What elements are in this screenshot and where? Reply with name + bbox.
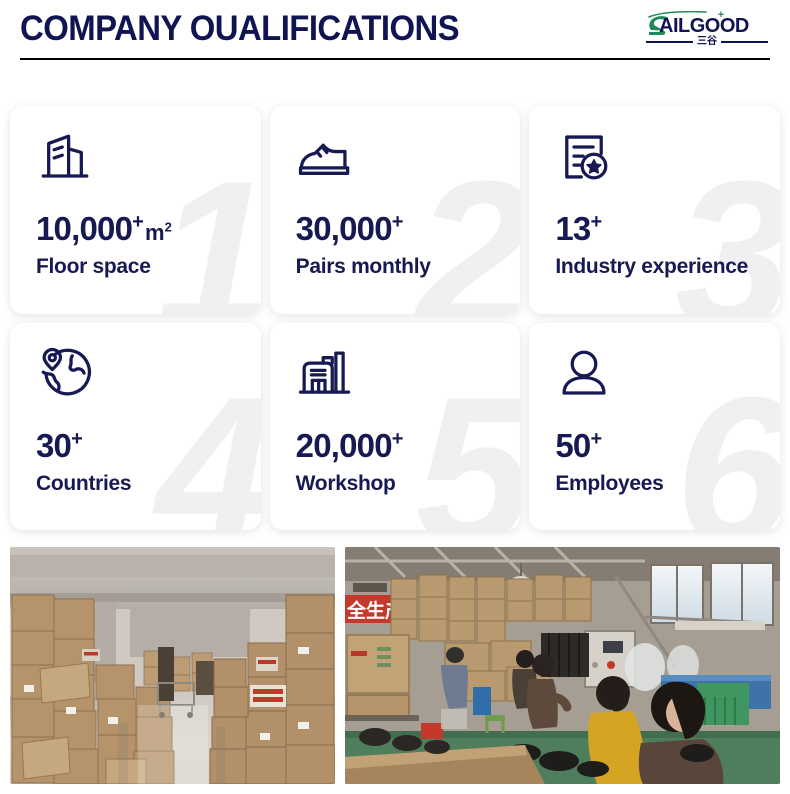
stat-label: Workshop: [296, 473, 521, 495]
building-icon: [36, 128, 94, 186]
factory-icon: [296, 345, 354, 403]
stat-number: 13: [555, 210, 590, 247]
globe-pin-icon: [36, 345, 94, 403]
stat-card-countries[interactable]: 4 30+ Countries: [10, 323, 261, 531]
stat-value: 10,000+m2: [36, 212, 261, 245]
stat-number: 50: [555, 427, 590, 464]
stat-card-floor-space[interactable]: 1 10,000+m2 Floor space: [10, 106, 261, 314]
svg-text:AILGOOD: AILGOOD: [659, 15, 749, 35]
stat-plus: +: [392, 211, 403, 233]
stat-number: 30: [36, 427, 71, 464]
stat-label: Countries: [36, 473, 261, 495]
stat-value: 50+: [555, 429, 780, 462]
brand-chinese-row: 三谷: [646, 35, 768, 49]
qualification-card-grid: 1 10,000+m2 Floor space 2: [10, 106, 780, 530]
warehouse-photo-art: [10, 547, 335, 784]
stat-value: 30,000+: [296, 212, 521, 245]
card-body: 50+ Employees: [555, 429, 780, 495]
stat-label: Industry experience: [555, 256, 780, 278]
person-icon: [555, 345, 613, 403]
warehouse-photo: [10, 547, 335, 784]
stat-label: Floor space: [36, 256, 261, 278]
stat-label: Employees: [555, 473, 780, 495]
stat-plus: +: [71, 428, 82, 450]
card-body: 10,000+m2 Floor space: [36, 212, 261, 278]
factory-photo: 全生产: [345, 547, 780, 784]
facility-photo-row: 全生产: [10, 547, 780, 784]
brand-rule-left: [646, 41, 693, 43]
stat-unit: m2: [145, 220, 172, 245]
stat-plus: +: [132, 211, 143, 233]
certificate-star-icon: [555, 128, 613, 186]
sneaker-icon: [296, 128, 354, 186]
page-header: COMPANY OUALIFICATIONS AILGOOD 三谷: [0, 0, 790, 72]
card-body: 30+ Countries: [36, 429, 261, 495]
stat-plus: +: [590, 428, 601, 450]
stat-plus: +: [590, 211, 601, 233]
brand-wordmark-svg: AILGOOD: [646, 11, 768, 35]
card-body: 30,000+ Pairs monthly: [296, 212, 521, 278]
stat-number: 20,000: [296, 427, 392, 464]
card-body: 13+ Industry experience: [555, 212, 780, 278]
stat-plus: +: [392, 428, 403, 450]
factory-photo-art: 全生产: [345, 547, 780, 784]
card-body: 20,000+ Workshop: [296, 429, 521, 495]
stat-number: 30,000: [296, 210, 392, 247]
brand-chinese-label: 三谷: [693, 37, 721, 47]
stat-card-industry-experience[interactable]: 3 13+ Industry experience: [529, 106, 780, 314]
stat-card-employees[interactable]: 6 50+ Employees: [529, 323, 780, 531]
stat-label: Pairs monthly: [296, 256, 521, 278]
stat-card-workshop[interactable]: 5 20,000+ Workshop: [270, 323, 521, 531]
header-divider: [20, 58, 770, 60]
stat-number: 10,000: [36, 210, 132, 247]
page-title: COMPANY OUALIFICATIONS: [20, 9, 459, 49]
stat-value: 20,000+: [296, 429, 521, 462]
stat-value: 13+: [555, 212, 780, 245]
stat-value: 30+: [36, 429, 261, 462]
brand-logo: AILGOOD 三谷: [646, 11, 768, 51]
brand-rule-right: [721, 41, 768, 43]
stat-card-pairs-monthly[interactable]: 2 30,000+ Pairs monthly: [270, 106, 521, 314]
